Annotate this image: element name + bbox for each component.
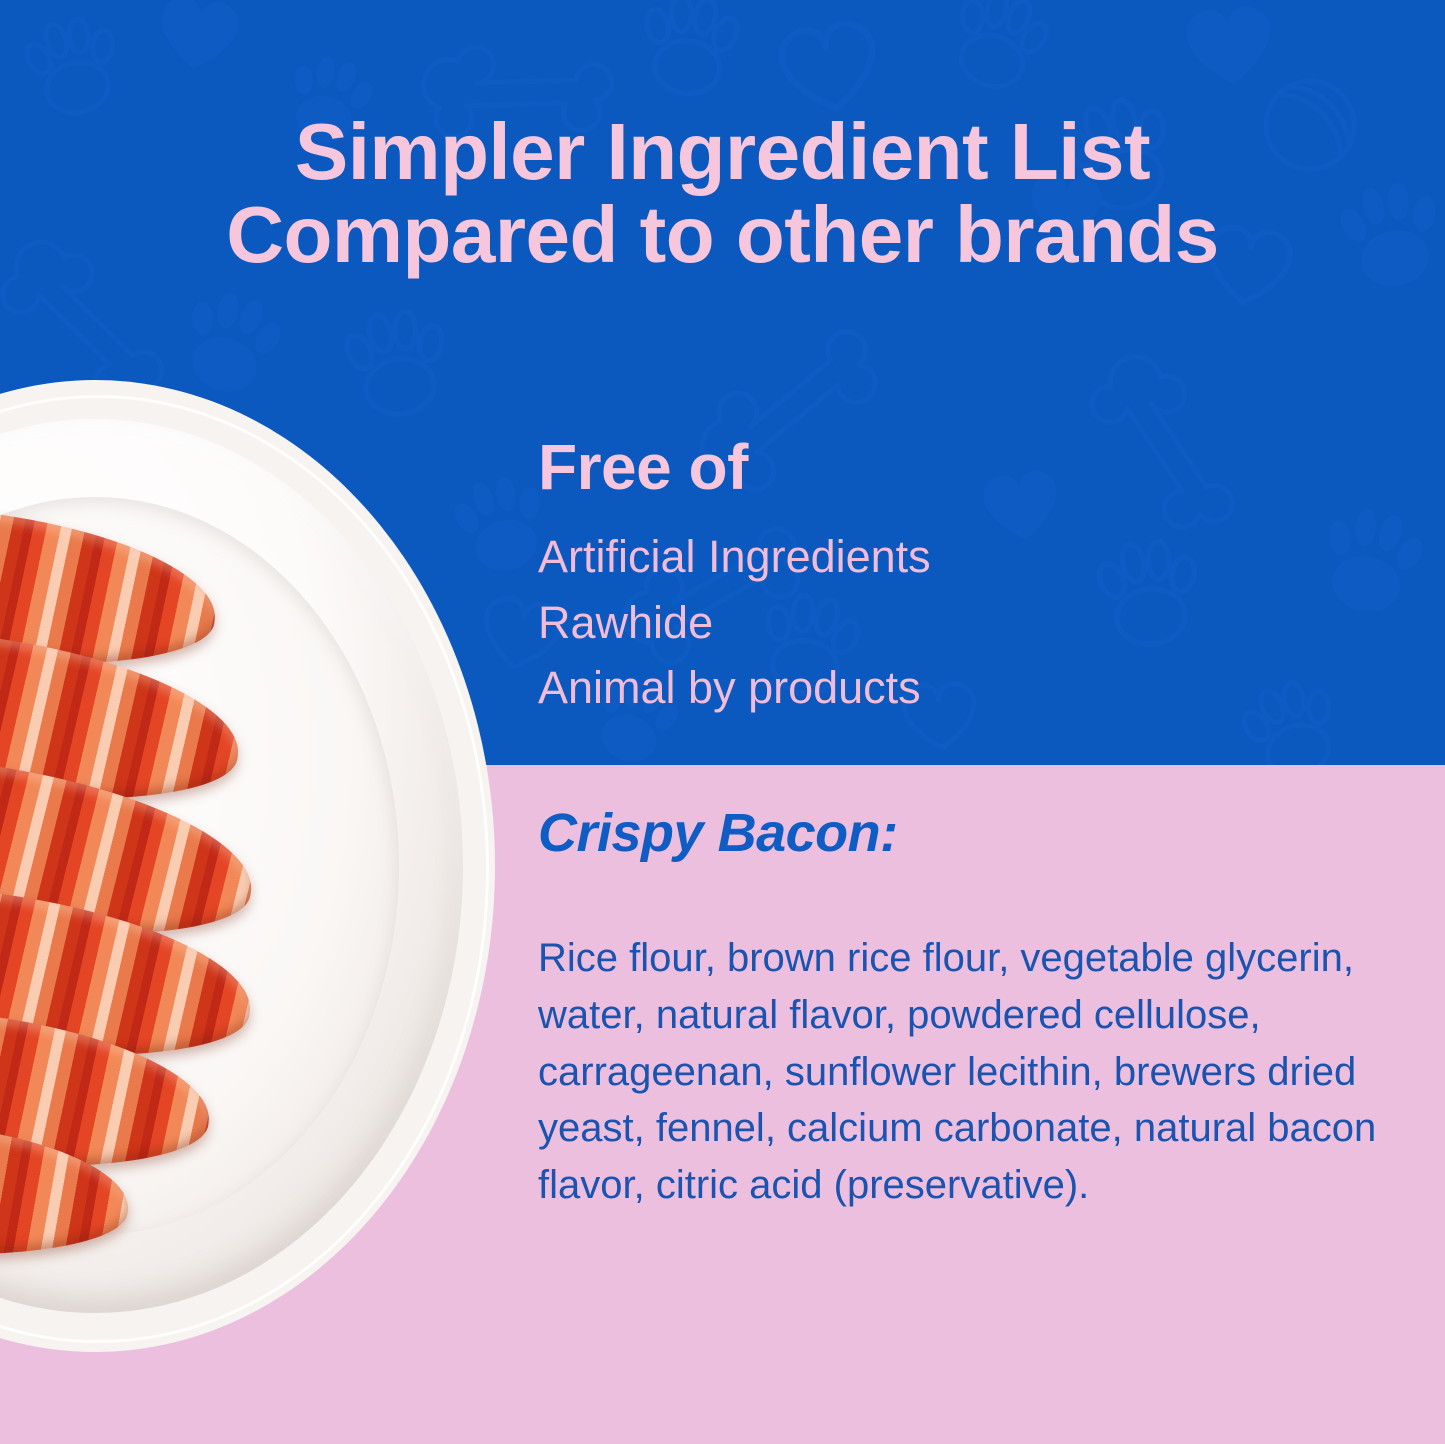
ingredients-heading: Crispy Bacon: [538, 802, 898, 864]
free-of-list: Artificial Ingredients Rawhide Animal by… [538, 524, 931, 721]
list-item: Animal by products [538, 655, 931, 721]
promo-graphic: Simpler Ingredient List Compared to othe… [0, 0, 1445, 1444]
page-title: Simpler Ingredient List Compared to othe… [0, 110, 1445, 276]
list-item: Artificial Ingredients [538, 524, 931, 590]
free-of-heading: Free of [538, 435, 748, 499]
list-item: Rawhide [538, 590, 931, 656]
ingredients-body: Rice flour, brown rice flour, vegetable … [538, 930, 1393, 1214]
